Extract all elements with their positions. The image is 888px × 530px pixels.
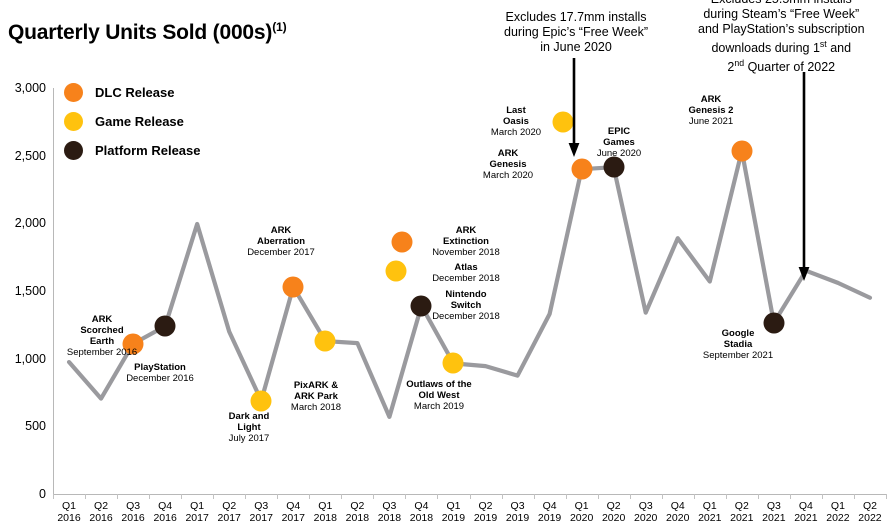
x-axis-tick-label: Q32016 <box>117 500 149 524</box>
x-axis-tick <box>566 494 567 499</box>
x-axis-tick <box>405 494 406 499</box>
x-tick-quarter: Q4 <box>799 500 813 512</box>
event-label-date: March 2020 <box>483 127 549 138</box>
event-marker-playstation[interactable] <box>155 316 176 337</box>
dlc-swatch-icon <box>64 83 83 102</box>
x-tick-quarter: Q2 <box>350 500 364 512</box>
annotation-line-part: downloads during 1 <box>711 41 819 55</box>
event-label-name: Atlas <box>420 262 512 273</box>
event-label-date: December 2018 <box>420 311 512 322</box>
event-label-name: ARK <box>472 148 544 159</box>
x-axis-tick-label: Q12018 <box>309 500 341 524</box>
x-tick-quarter: Q4 <box>543 500 557 512</box>
event-label-name: Earth <box>57 336 147 347</box>
event-label-outlaws: Outlaws of theOld WestMarch 2019 <box>392 379 486 412</box>
event-label-name: Old West <box>392 390 486 401</box>
x-tick-year: 2018 <box>410 512 433 524</box>
x-axis-tick <box>373 494 374 499</box>
x-tick-year: 2020 <box>602 512 625 524</box>
x-tick-year: 2016 <box>89 512 112 524</box>
event-label-name: Dark and <box>210 411 288 422</box>
event-label-date: March 2019 <box>392 401 486 412</box>
x-tick-quarter: Q3 <box>382 500 396 512</box>
x-axis-tick <box>309 494 310 499</box>
event-label-ark-extinction: ARKExtinctionNovember 2018 <box>420 225 512 258</box>
x-tick-quarter: Q1 <box>190 500 204 512</box>
x-tick-quarter: Q3 <box>126 500 140 512</box>
x-axis-tick-label: Q12017 <box>181 500 213 524</box>
event-marker-ark-aberration[interactable] <box>283 276 304 297</box>
x-axis-tick-label: Q22016 <box>85 500 117 524</box>
legend-item-label: Game Release <box>95 114 184 129</box>
x-tick-year: 2020 <box>666 512 689 524</box>
x-axis-tick <box>758 494 759 499</box>
x-tick-quarter: Q2 <box>479 500 493 512</box>
annotation-line-part: and <box>827 41 851 55</box>
event-label-date: December 2018 <box>420 273 512 284</box>
x-axis-tick <box>662 494 663 499</box>
x-axis-tick <box>437 494 438 499</box>
event-label-date: March 2018 <box>278 402 354 413</box>
event-label-date: September 2021 <box>693 350 783 361</box>
event-label-name: ARK <box>239 225 323 236</box>
x-tick-year: 2022 <box>858 512 881 524</box>
ordinal-superscript: nd <box>734 58 744 68</box>
x-axis-tick <box>277 494 278 499</box>
event-label-name: ARK <box>420 225 512 236</box>
annotation-line: Excludes 25.5mm installs <box>698 0 865 7</box>
event-label-ark-aberration: ARKAberrationDecember 2017 <box>239 225 323 258</box>
x-axis-tick-label: Q12020 <box>566 500 598 524</box>
x-axis-tick <box>726 494 727 499</box>
annotation-line: in June 2020 <box>504 40 648 55</box>
x-tick-quarter: Q2 <box>94 500 108 512</box>
x-tick-year: 2017 <box>218 512 241 524</box>
x-axis-tick-label: Q22021 <box>726 500 758 524</box>
x-axis-tick <box>854 494 855 499</box>
x-axis-tick-label: Q42017 <box>277 500 309 524</box>
x-axis-tick-label: Q32019 <box>502 500 534 524</box>
x-tick-year: 2021 <box>762 512 785 524</box>
x-tick-quarter: Q1 <box>575 500 589 512</box>
x-tick-quarter: Q2 <box>222 500 236 512</box>
event-marker-epic-games[interactable] <box>603 157 624 178</box>
y-axis-tick-label: 2,500 <box>0 150 46 163</box>
x-tick-year: 2022 <box>826 512 849 524</box>
x-tick-year: 2019 <box>506 512 529 524</box>
event-label-atlas: AtlasDecember 2018 <box>420 262 512 284</box>
event-label-date: June 2020 <box>586 148 652 159</box>
annotation-line: Excludes 17.7mm installs <box>504 10 648 25</box>
event-label-name: Nintendo <box>420 289 512 300</box>
game-swatch-icon <box>64 112 83 131</box>
annotation-epic-free-week: Excludes 17.7mm installs during Epic’s “… <box>504 10 648 55</box>
x-tick-quarter: Q4 <box>158 500 172 512</box>
x-tick-quarter: Q1 <box>831 500 845 512</box>
x-tick-quarter: Q3 <box>767 500 781 512</box>
x-tick-year: 2017 <box>250 512 273 524</box>
event-label-epic-games: EPICGamesJune 2020 <box>586 126 652 159</box>
event-label-name: ARK Park <box>278 391 354 402</box>
x-tick-quarter: Q3 <box>639 500 653 512</box>
ordinal-superscript: st <box>820 39 827 49</box>
x-axis-tick <box>534 494 535 499</box>
x-axis-tick <box>886 494 887 499</box>
x-axis-tick <box>502 494 503 499</box>
event-label-name: EPIC <box>586 126 652 137</box>
event-label-date: March 2020 <box>472 170 544 181</box>
event-label-name: Aberration <box>239 236 323 247</box>
event-label-name: Stadia <box>693 339 783 350</box>
x-tick-year: 2018 <box>378 512 401 524</box>
x-tick-quarter: Q1 <box>318 500 332 512</box>
x-axis-tick <box>149 494 150 499</box>
x-tick-year: 2018 <box>346 512 369 524</box>
x-tick-quarter: Q3 <box>254 500 268 512</box>
event-label-name: Oasis <box>483 116 549 127</box>
event-label-name: Google <box>693 328 783 339</box>
legend-item-game: Game Release <box>64 107 201 136</box>
event-label-google-stadia: GoogleStadiaSeptember 2021 <box>693 328 783 361</box>
legend-item-label: DLC Release <box>95 85 174 100</box>
event-label-name: Genesis 2 <box>673 105 749 116</box>
x-axis-tick-label: Q32018 <box>373 500 405 524</box>
x-tick-year: 2019 <box>442 512 465 524</box>
page-title: Quarterly Units Sold (000s)(1) <box>8 20 286 45</box>
event-label-name: Light <box>210 422 288 433</box>
x-tick-year: 2019 <box>538 512 561 524</box>
event-label-name: Genesis <box>472 159 544 170</box>
event-label-name: ARK <box>673 94 749 105</box>
event-label-date: November 2018 <box>420 247 512 258</box>
x-axis-tick <box>117 494 118 499</box>
y-axis-tick-label: 1,000 <box>0 353 46 366</box>
event-label-date: July 2017 <box>210 433 288 444</box>
x-tick-year: 2020 <box>634 512 657 524</box>
legend-item-dlc: DLC Release <box>64 78 201 107</box>
y-axis-tick-label: 0 <box>0 488 46 501</box>
chart-title-superscript: (1) <box>272 20 286 34</box>
annotation-arrow-steam <box>798 72 810 282</box>
y-axis-tick-label: 1,500 <box>0 285 46 298</box>
x-tick-year: 2021 <box>730 512 753 524</box>
chart-canvas: Quarterly Units Sold (000s)(1) 05001,000… <box>0 0 888 530</box>
y-axis-line <box>53 88 54 494</box>
x-axis-tick-label: Q42020 <box>662 500 694 524</box>
x-tick-quarter: Q1 <box>446 500 460 512</box>
event-label-ark-scorched-earth: ARKScorchedEarthSeptember 2016 <box>57 314 147 358</box>
x-tick-year: 2021 <box>794 512 817 524</box>
event-label-name: PixARK & <box>278 380 354 391</box>
x-axis-tick <box>245 494 246 499</box>
event-label-name: PlayStation <box>114 362 206 373</box>
x-tick-quarter: Q4 <box>414 500 428 512</box>
x-axis-tick-label: Q32021 <box>758 500 790 524</box>
x-tick-quarter: Q2 <box>607 500 621 512</box>
x-tick-quarter: Q2 <box>735 500 749 512</box>
event-label-name: Scorched <box>57 325 147 336</box>
event-label-ark-genesis-2: ARKGenesis 2June 2021 <box>673 94 749 127</box>
x-tick-quarter: Q1 <box>703 500 717 512</box>
x-tick-year: 2017 <box>185 512 208 524</box>
legend: DLC Release Game Release Platform Releas… <box>64 78 201 165</box>
x-axis-tick <box>85 494 86 499</box>
event-marker-ark-genesis-2[interactable] <box>731 140 752 161</box>
x-tick-year: 2016 <box>57 512 80 524</box>
x-tick-year: 2016 <box>121 512 144 524</box>
x-axis-tick-label: Q12016 <box>53 500 85 524</box>
x-tick-year: 2016 <box>153 512 176 524</box>
annotation-line: and PlayStation’s subscription <box>698 22 865 37</box>
event-marker-ark-genesis[interactable] <box>571 159 592 180</box>
x-axis-tick <box>181 494 182 499</box>
x-tick-year: 2020 <box>570 512 593 524</box>
x-tick-year: 2018 <box>314 512 337 524</box>
event-marker-ark-extinction[interactable] <box>392 232 413 253</box>
x-tick-year: 2021 <box>698 512 721 524</box>
x-axis-tick <box>598 494 599 499</box>
event-marker-outlaws-of-the-old-west[interactable] <box>443 353 464 374</box>
event-label-name: Outlaws of the <box>392 379 486 390</box>
x-axis-tick-label: Q22019 <box>470 500 502 524</box>
x-tick-quarter: Q2 <box>863 500 877 512</box>
x-tick-quarter: Q4 <box>671 500 685 512</box>
event-label-name: Games <box>586 137 652 148</box>
event-label-nintendo-switch: NintendoSwitchDecember 2018 <box>420 289 512 322</box>
platform-swatch-icon <box>64 141 83 160</box>
legend-item-platform: Platform Release <box>64 136 201 165</box>
x-axis-tick-label: Q12021 <box>694 500 726 524</box>
x-axis-tick-label: Q42018 <box>405 500 437 524</box>
x-axis-tick-label: Q12019 <box>437 500 469 524</box>
event-label-pixark: PixARK &ARK ParkMarch 2018 <box>278 380 354 413</box>
event-marker-pixark-ark-park[interactable] <box>315 331 336 352</box>
annotation-line-part: Quarter of 2022 <box>744 60 835 74</box>
x-tick-year: 2017 <box>282 512 305 524</box>
x-axis-tick-label: Q32020 <box>630 500 662 524</box>
x-tick-year: 2019 <box>474 512 497 524</box>
event-label-dark-and-light: Dark andLightJuly 2017 <box>210 411 288 444</box>
x-axis-tick-label: Q42021 <box>790 500 822 524</box>
x-axis-tick <box>822 494 823 499</box>
x-axis-tick <box>470 494 471 499</box>
x-axis-tick-label: Q32017 <box>245 500 277 524</box>
x-tick-quarter: Q4 <box>286 500 300 512</box>
x-axis-tick-label: Q12022 <box>822 500 854 524</box>
x-axis-tick-label: Q22020 <box>598 500 630 524</box>
event-marker-atlas[interactable] <box>386 261 407 282</box>
x-axis-tick-label: Q22018 <box>341 500 373 524</box>
x-axis-tick <box>213 494 214 499</box>
x-axis-tick <box>790 494 791 499</box>
x-axis-tick <box>694 494 695 499</box>
event-label-name: Last <box>483 105 549 116</box>
legend-item-label: Platform Release <box>95 143 201 158</box>
x-axis-tick-label: Q22017 <box>213 500 245 524</box>
y-axis-tick-label: 500 <box>0 420 46 433</box>
x-axis-tick-label: Q42016 <box>149 500 181 524</box>
event-label-date: September 2016 <box>57 347 147 358</box>
annotation-line: downloads during 1st and <box>698 37 865 56</box>
annotation-line: during Steam’s “Free Week” <box>698 7 865 22</box>
event-label-date: December 2016 <box>114 373 206 384</box>
event-label-name: Switch <box>420 300 512 311</box>
x-tick-quarter: Q1 <box>62 500 76 512</box>
x-axis-tick <box>341 494 342 499</box>
x-tick-quarter: Q3 <box>511 500 525 512</box>
event-label-last-oasis: LastOasisMarch 2020 <box>483 105 549 138</box>
event-label-name: Extinction <box>420 236 512 247</box>
event-label-ark-genesis: ARKGenesisMarch 2020 <box>472 148 544 181</box>
event-label-date: June 2021 <box>673 116 749 127</box>
annotation-line: during Epic’s “Free Week” <box>504 25 648 40</box>
x-axis-tick-label: Q42019 <box>534 500 566 524</box>
event-label-date: December 2017 <box>239 247 323 258</box>
x-axis-tick-label: Q22022 <box>854 500 886 524</box>
annotation-steam-free-week: Excludes 25.5mm installs during Steam’s … <box>698 0 865 75</box>
event-marker-dark-and-light[interactable] <box>251 390 272 411</box>
x-axis-tick <box>53 494 54 499</box>
chart-title-text: Quarterly Units Sold (000s) <box>8 21 272 44</box>
y-axis-tick-label: 3,000 <box>0 82 46 95</box>
annotation-arrow-epic <box>568 58 580 158</box>
event-label-playstation: PlayStationDecember 2016 <box>114 362 206 384</box>
event-label-name: ARK <box>57 314 147 325</box>
x-axis-tick <box>630 494 631 499</box>
annotation-line: 2nd Quarter of 2022 <box>698 56 865 75</box>
y-axis-tick-label: 2,000 <box>0 217 46 230</box>
